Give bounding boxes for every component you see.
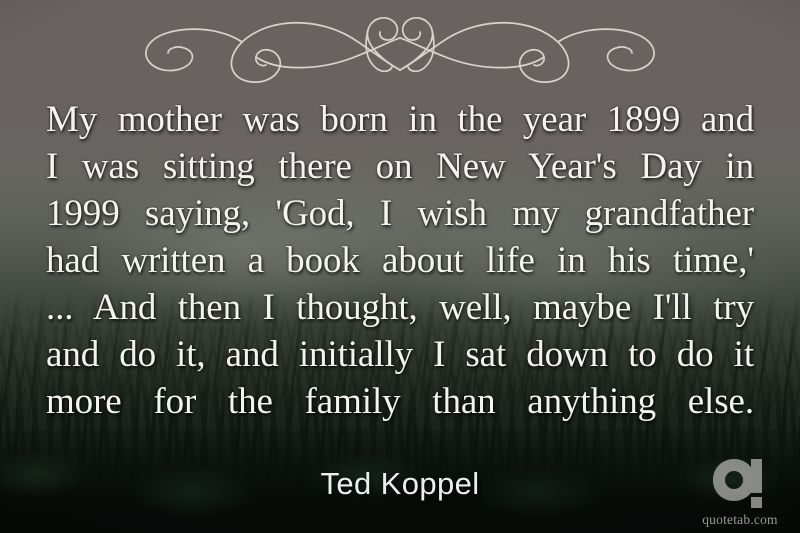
quote-line-text: ... And then I thought, well, maybe I'll…: [46, 284, 754, 331]
quote-card: My mother was born in the year 1899 and …: [0, 0, 800, 533]
watermark-site-text[interactable]: quotetab.com: [694, 513, 786, 527]
author-name: Ted Koppel: [0, 466, 800, 502]
quotetab-q-logo-icon[interactable]: [712, 455, 768, 511]
quote-line-text: more for the family than anything else.: [46, 378, 754, 425]
flourish-divider-icon: [120, 8, 680, 86]
quote-line-text: had written a book about life in his tim…: [46, 237, 754, 284]
watermark[interactable]: quotetab.com: [694, 455, 786, 527]
quote-line-text: I was sitting there on New Year's Day in: [46, 143, 754, 190]
quote-line: I was sitting there on New Year's Day in: [46, 143, 754, 190]
quote-line: 1999 saying, 'God, I wish my grandfather: [46, 190, 754, 237]
quote-line: and do it, and initially I sat down to d…: [46, 331, 754, 378]
quote-line-text: 1999 saying, 'God, I wish my grandfather: [46, 190, 754, 237]
quote-line-text: and do it, and initially I sat down to d…: [46, 331, 754, 378]
quote-line: more for the family than anything else.: [46, 378, 754, 425]
quote-text: My mother was born in the year 1899 and …: [46, 96, 754, 425]
card-content: My mother was born in the year 1899 and …: [0, 0, 800, 533]
quote-line-text: My mother was born in the year 1899 and: [46, 96, 754, 143]
quote-line: had written a book about life in his tim…: [46, 237, 754, 284]
quote-line: My mother was born in the year 1899 and: [46, 96, 754, 143]
quote-line: ... And then I thought, well, maybe I'll…: [46, 284, 754, 331]
